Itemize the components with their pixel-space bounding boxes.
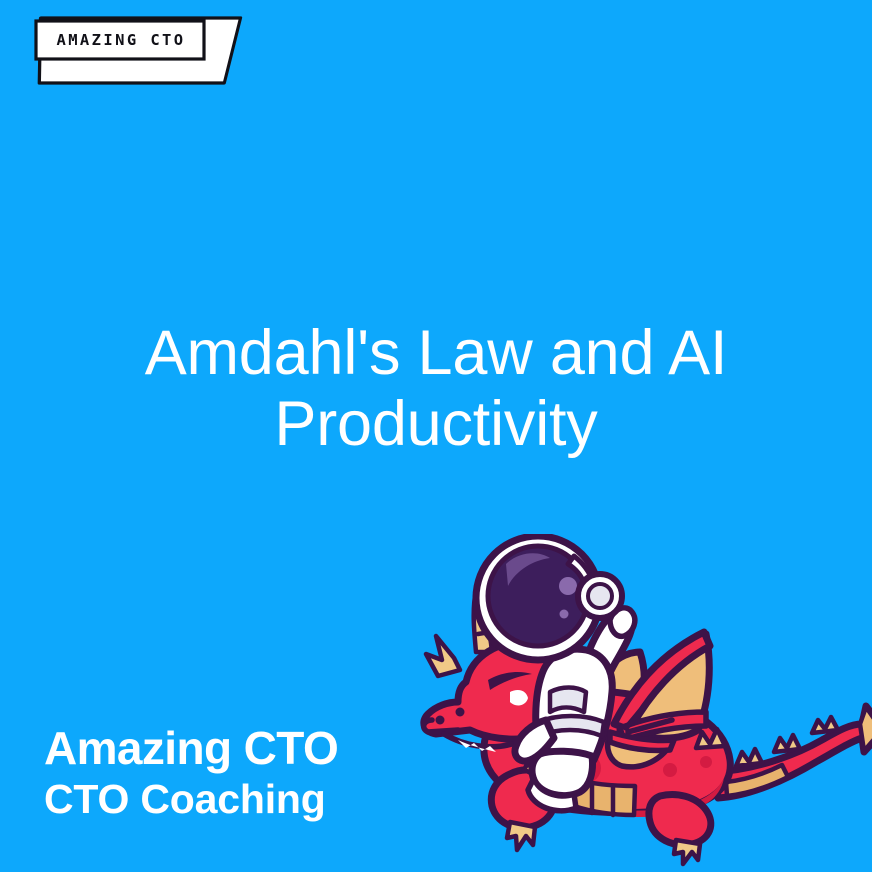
- dragon-hind-leg: [649, 795, 711, 864]
- social-card: AMAZING CTO Amdahl's Law and AI Producti…: [0, 0, 872, 872]
- brand-name: Amazing CTO: [44, 725, 474, 773]
- astronaut-riding-dragon-illustration: .ol { stroke:#3d1348; stroke-width:7; st…: [414, 534, 872, 872]
- logo-wordmark: AMAZING CTO: [41, 27, 201, 53]
- visor-glint: [559, 577, 577, 595]
- dragon-tail: [714, 706, 872, 798]
- dragon-nostril: [436, 716, 445, 725]
- dragon-hind-claw: [674, 840, 700, 864]
- page-title: Amdahl's Law and AI Productivity: [60, 318, 812, 459]
- helmet-pod-inner: [588, 584, 612, 608]
- dragon-nostril: [456, 708, 465, 717]
- dragon-spot: [663, 763, 677, 777]
- brand-tagline: CTO Coaching: [44, 776, 474, 824]
- logo-badge[interactable]: AMAZING CTO: [0, 0, 260, 100]
- visor-glint: [560, 610, 569, 619]
- brand-block: Amazing CTO CTO Coaching: [44, 725, 474, 824]
- astronaut-chest-pack: [550, 688, 586, 713]
- dragon-front-claw: [507, 822, 535, 850]
- dragon-ear-left: [426, 636, 460, 676]
- dragon-tail-tip: [860, 707, 872, 751]
- dragon-spot: [700, 756, 712, 768]
